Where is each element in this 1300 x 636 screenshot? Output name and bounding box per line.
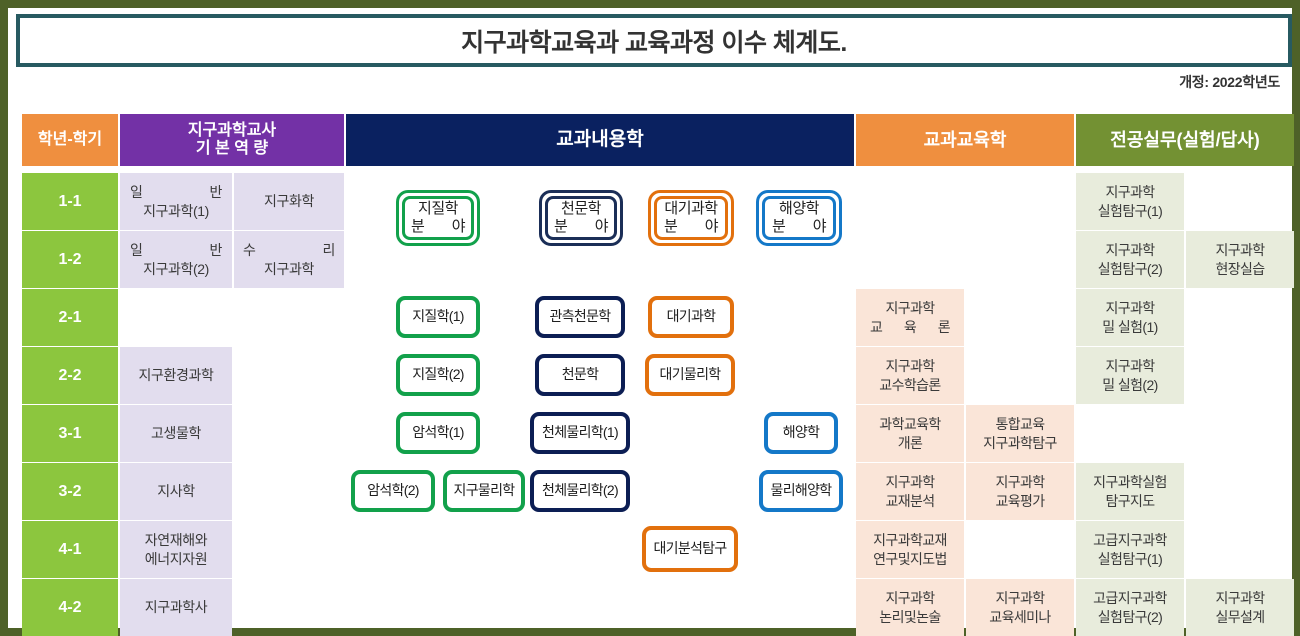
basic-competency-cell: 일반지구과학(2)	[120, 231, 232, 288]
basic-competency-cell: 지구환경과학	[120, 347, 232, 404]
pedagogy-course-cell: 통합교육지구과학탐구	[966, 405, 1074, 462]
basic-competency-cell: 지구화학	[234, 173, 344, 230]
content-course-box: 해양학	[764, 412, 838, 454]
pedagogy-header-label: 교과교육학	[924, 130, 1007, 151]
practice-course-cell: 지구과학현장실습	[1186, 231, 1294, 288]
field-header-astronomy: 천문학분야	[539, 190, 623, 246]
pedagogy-course-cell: 지구과학교육세미나	[966, 579, 1074, 636]
revision-note: 개정: 2022학년도	[1179, 72, 1280, 92]
basic-competency-cell: 고생물학	[120, 405, 232, 462]
page-title: 지구과학교육과 교육과정 이수 체계도.	[461, 23, 847, 59]
content-course-box: 천체물리학(2)	[530, 470, 630, 512]
semester-cell: 3-2	[22, 463, 118, 520]
semester-cell: 2-1	[22, 289, 118, 346]
title-bar: 지구과학교육과 교육과정 이수 체계도.	[16, 14, 1292, 67]
semester-cell: 1-1	[22, 173, 118, 230]
pedagogy-course-cell: 지구과학논리및논술	[856, 579, 964, 636]
practice-course-cell: 지구과학실험탐구지도	[1076, 463, 1184, 520]
content-course-box: 물리해양학	[759, 470, 843, 512]
column-header-practice: 전공실무(실험/답사)	[1076, 114, 1294, 166]
practice-course-cell: 지구과학실무설계	[1186, 579, 1294, 636]
column-header-content: 교과내용학	[346, 114, 854, 166]
practice-course-cell: 지구과학실험탐구(1)	[1076, 173, 1184, 230]
pedagogy-course-cell: 지구과학교육평가	[966, 463, 1074, 520]
content-course-box: 대기물리학	[645, 354, 735, 396]
pedagogy-course-cell: 지구과학교재연구및지도법	[856, 521, 964, 578]
basic-competency-cell: 지사학	[120, 463, 232, 520]
content-course-box: 지구물리학	[443, 470, 525, 512]
practice-header-label: 전공실무(실험/답사)	[1110, 130, 1259, 151]
practice-course-cell: 지구과학밀 실험(2)	[1076, 347, 1184, 404]
content-course-box: 지질학(1)	[396, 296, 480, 338]
column-header-basic-competency: 지구과학교사 기 본 역 량	[120, 114, 344, 166]
content-course-box: 관측천문학	[535, 296, 625, 338]
basic-competency-cell: 일반지구과학(1)	[120, 173, 232, 230]
field-header-atmosphere: 대기과학분야	[648, 190, 734, 246]
semester-cell: 1-2	[22, 231, 118, 288]
semester-cell: 2-2	[22, 347, 118, 404]
content-course-box: 암석학(1)	[396, 412, 480, 454]
practice-course-cell: 고급지구과학실험탐구(2)	[1076, 579, 1184, 636]
practice-course-cell: 고급지구과학실험탐구(1)	[1076, 521, 1184, 578]
column-header-grade-label: 학년-학기	[38, 131, 102, 149]
curriculum-diagram: 지구과학교육과 교육과정 이수 체계도. 개정: 2022학년도 학년-학기 지…	[0, 0, 1300, 636]
semester-cell: 4-2	[22, 579, 118, 636]
field-header-geology: 지질학분야	[396, 190, 480, 246]
content-course-box: 대기분석탐구	[642, 526, 738, 572]
basic-competency-cell: 수리지구과학	[234, 231, 344, 288]
practice-course-cell: 지구과학실험탐구(2)	[1076, 231, 1184, 288]
content-course-box: 천체물리학(1)	[530, 412, 630, 454]
column-header-grade: 학년-학기	[22, 114, 118, 166]
basic-header-line2: 기 본 역 량	[188, 140, 276, 158]
content-header-label: 교과내용학	[556, 129, 643, 151]
field-header-ocean: 해양학분야	[756, 190, 842, 246]
content-course-box: 지질학(2)	[396, 354, 480, 396]
pedagogy-course-cell: 지구과학교재분석	[856, 463, 964, 520]
semester-cell: 3-1	[22, 405, 118, 462]
column-header-pedagogy: 교과교육학	[856, 114, 1074, 166]
content-course-box: 대기과학	[648, 296, 734, 338]
pedagogy-course-cell: 지구과학교육론	[856, 289, 964, 346]
basic-competency-cell: 자연재해와에너지자원	[120, 521, 232, 578]
content-course-box: 천문학	[535, 354, 625, 396]
pedagogy-course-cell: 과학교육학개론	[856, 405, 964, 462]
basic-header-line1: 지구과학교사	[188, 122, 276, 140]
semester-cell: 4-1	[22, 521, 118, 578]
content-course-box: 암석학(2)	[351, 470, 435, 512]
basic-competency-cell: 지구과학사	[120, 579, 232, 636]
practice-course-cell: 지구과학밀 실험(1)	[1076, 289, 1184, 346]
pedagogy-course-cell: 지구과학교수학습론	[856, 347, 964, 404]
